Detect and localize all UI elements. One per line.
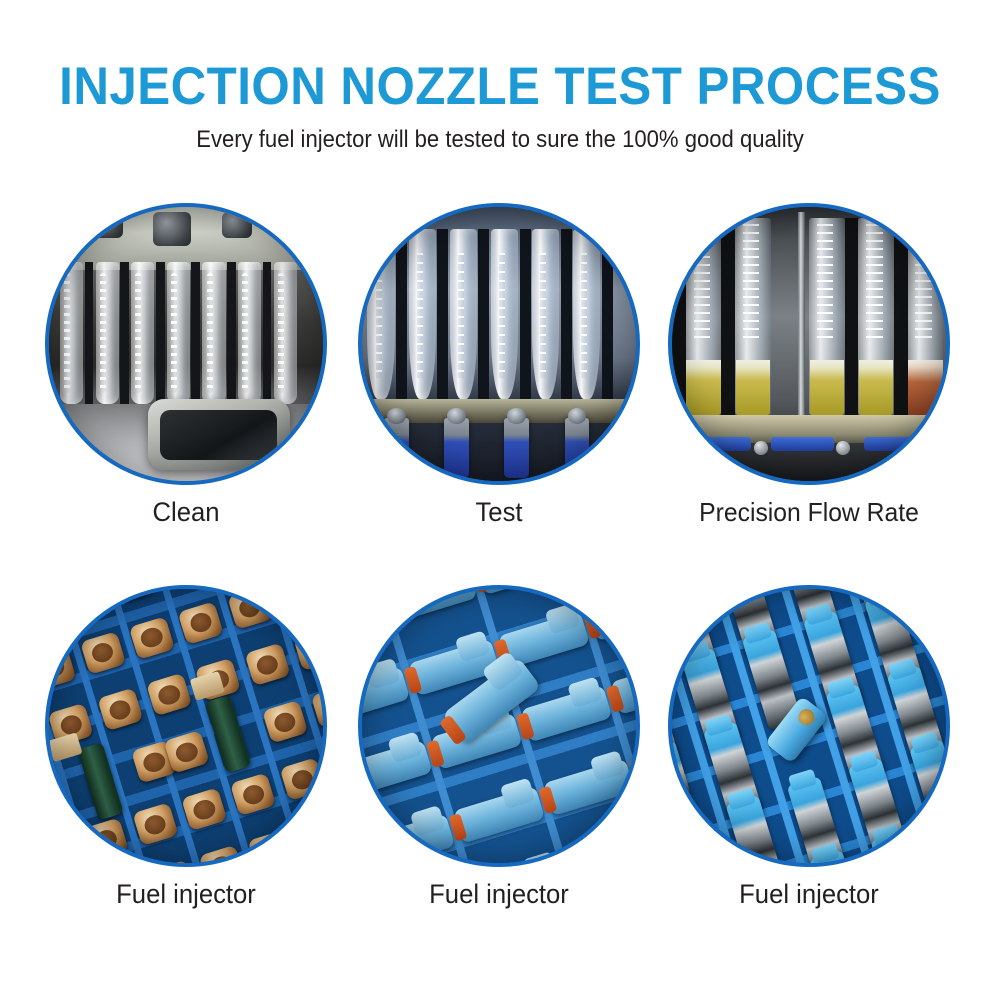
step-label-clean: Clean <box>52 495 320 529</box>
photo-clean <box>45 203 327 485</box>
step-label-fuel-injector-1: Fuel injector <box>52 877 320 911</box>
step-label-test: Test <box>365 495 633 529</box>
photo-precision-flow-rate <box>668 203 950 485</box>
photo-test <box>358 203 640 485</box>
scene-graduated-cylinders <box>672 207 946 481</box>
page-title: INJECTION NOZZLE TEST PROCESS <box>35 58 965 116</box>
photo-fuel-injector-brown-tray <box>45 585 327 867</box>
step-card-fuel-injector-blue: Fuel injector <box>358 585 640 867</box>
photo-fuel-injector-blue-tray <box>358 585 640 867</box>
scene-injector-tray-brown <box>49 589 323 863</box>
step-card-fuel-injector-brown: Fuel injector <box>45 585 327 867</box>
step-card-precision-flow-rate: Precision Flow Rate <box>668 203 950 485</box>
step-label-precision-flow-rate: Precision Flow Rate <box>675 495 943 529</box>
infographic-page: INJECTION NOZZLE TEST PROCESS Every fuel… <box>0 0 1000 1000</box>
step-card-clean: Clean <box>45 203 327 485</box>
page-subtitle: Every fuel injector will be tested to su… <box>40 125 960 155</box>
step-label-fuel-injector-2: Fuel injector <box>365 877 633 911</box>
step-label-fuel-injector-3: Fuel injector <box>675 877 943 911</box>
photo-fuel-injector-metal-tray <box>668 585 950 867</box>
step-card-fuel-injector-metal: Fuel injector <box>668 585 950 867</box>
scene-injector-tray-blue <box>362 589 636 863</box>
step-card-test: Test <box>358 203 640 485</box>
scene-test-rig <box>362 207 636 481</box>
scene-ultrasonic-cleaner <box>49 207 323 481</box>
scene-injector-tray-metal <box>672 589 946 863</box>
